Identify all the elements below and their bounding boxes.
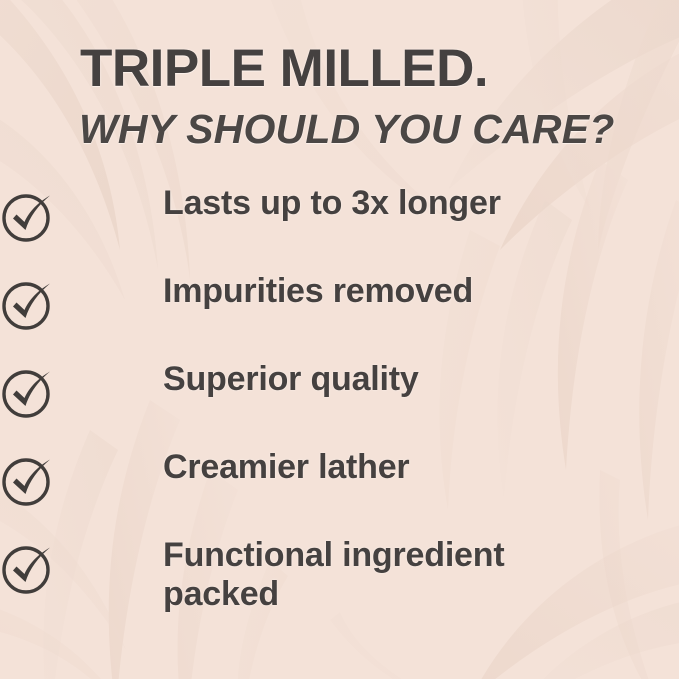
check-circle-icon xyxy=(0,452,56,508)
check-circle-icon xyxy=(0,364,56,420)
benefits-list: Lasts up to 3x longer Impurities removed… xyxy=(0,180,679,620)
list-item: Impurities removed xyxy=(0,268,679,356)
list-item: Functional ingredient packed xyxy=(0,532,679,620)
check-circle-icon xyxy=(0,276,56,332)
list-item: Creamier lather xyxy=(0,444,679,532)
check-circle-icon xyxy=(0,540,56,596)
content-layer: TRIPLE MILLED. WHY SHOULD YOU CARE? Last… xyxy=(0,0,679,679)
page-title: TRIPLE MILLED. xyxy=(80,42,488,95)
page-subtitle: WHY SHOULD YOU CARE? xyxy=(79,109,615,150)
list-item-label: Impurities removed xyxy=(163,268,593,311)
list-item-label: Functional ingredient packed xyxy=(163,532,593,615)
list-item: Lasts up to 3x longer xyxy=(0,180,679,268)
list-item-label: Creamier lather xyxy=(163,444,593,487)
check-circle-icon xyxy=(0,188,56,244)
list-item: Superior quality xyxy=(0,356,679,444)
infographic-canvas: TRIPLE MILLED. WHY SHOULD YOU CARE? Last… xyxy=(0,0,679,679)
list-item-label: Lasts up to 3x longer xyxy=(163,180,593,223)
list-item-label: Superior quality xyxy=(163,356,593,399)
